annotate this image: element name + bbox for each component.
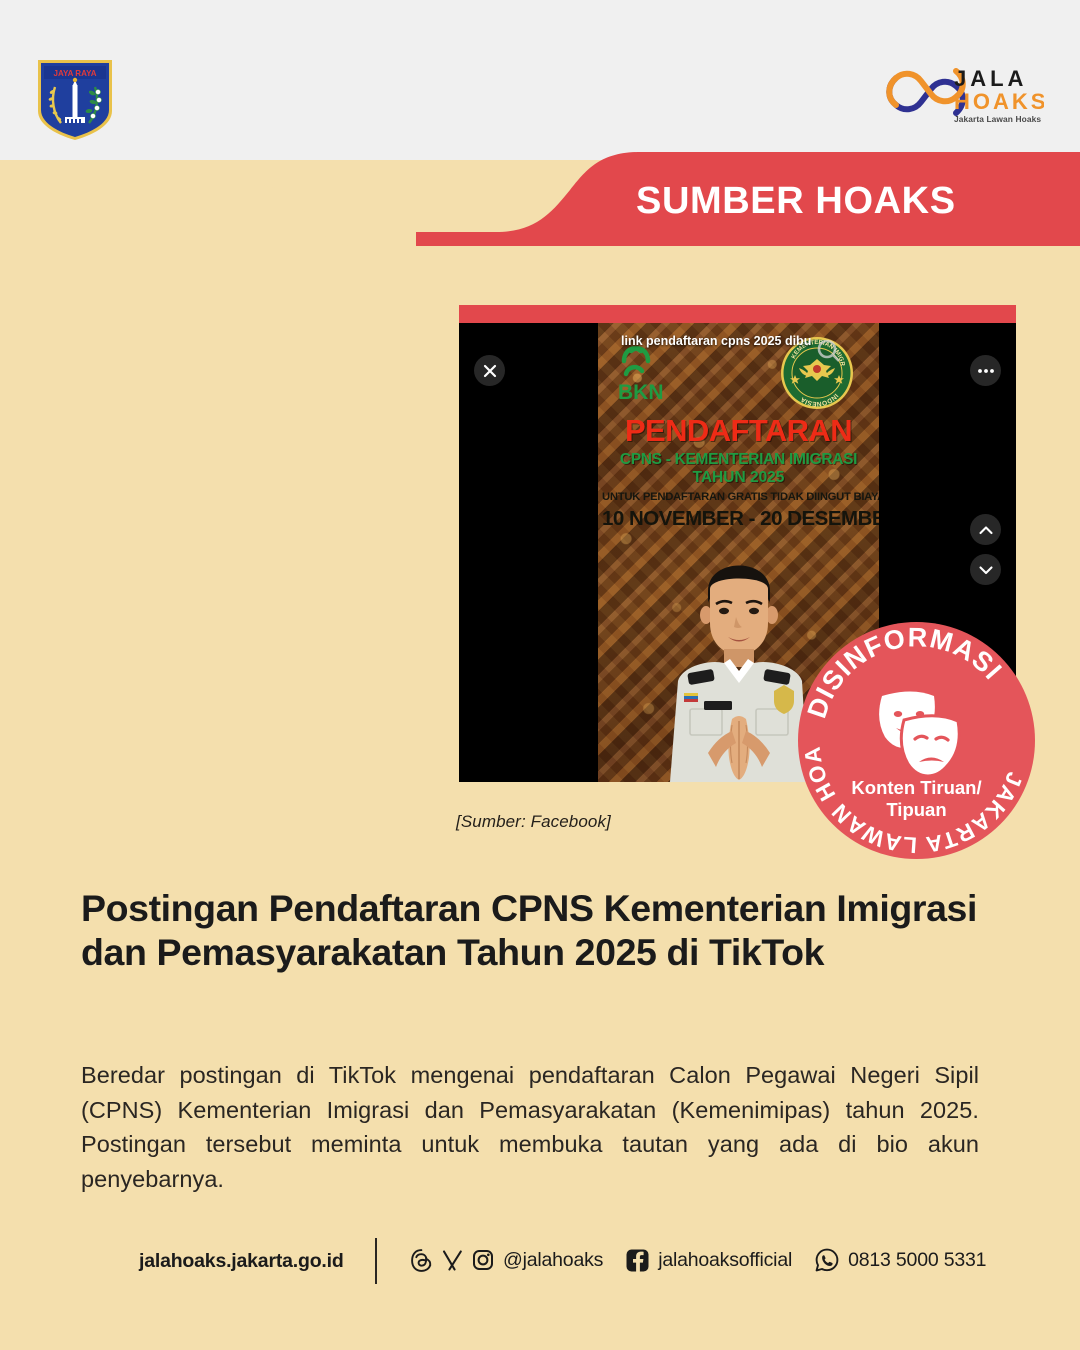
bkn-logo: BKN xyxy=(614,341,680,405)
footer-divider xyxy=(375,1238,377,1284)
whatsapp-icon[interactable] xyxy=(815,1248,839,1272)
scroll-up-button[interactable] xyxy=(970,514,1001,545)
beige-fill-bottom xyxy=(0,246,1080,260)
whatsapp-number: 0813 5000 5331 xyxy=(848,1245,986,1275)
chevron-up-icon xyxy=(979,525,993,535)
footer: jalahoaks.jakarta.go.id xyxy=(0,1248,1080,1296)
source-caption: [Sumber: Facebook] xyxy=(456,812,716,832)
logo-tagline: Jakarta Lawan Hoaks xyxy=(954,114,1041,124)
poster-title: PENDAFTARAN xyxy=(602,415,875,447)
footer-website[interactable]: jalahoaks.jakarta.go.id xyxy=(139,1248,344,1274)
poster-date-range: 10 NOVEMBER - 20 DESEMBER xyxy=(602,507,875,530)
jakarta-emblem: JAYA RAYA xyxy=(31,55,119,143)
page-title: Postingan Pendaftaran CPNS Kementerian I… xyxy=(81,886,1011,974)
banner-title: SUMBER HOAKS xyxy=(636,175,1056,227)
close-icon xyxy=(483,364,497,378)
footer-social-row: @jalahoaks jalahoaksofficial 0813 5000 5… xyxy=(410,1245,1000,1275)
svg-text:BKN: BKN xyxy=(618,381,664,404)
article-body: Beredar postingan di TikTok mengenai pen… xyxy=(81,1058,979,1196)
tiktok-caption-overlay: link pendaftaran cpns 2025 dibu xyxy=(621,334,871,349)
scroll-down-button[interactable] xyxy=(970,554,1001,585)
threads-icon[interactable] xyxy=(410,1248,433,1273)
instagram-icon[interactable] xyxy=(472,1249,494,1271)
screenshot-top-redbar xyxy=(459,305,1016,323)
facebook-icon[interactable] xyxy=(626,1249,649,1272)
poster-canvas: JAYA RAYA xyxy=(0,0,1080,1350)
poster-subtitle-line2: TAHUN 2025 xyxy=(602,469,875,486)
interlocking-links-icon xyxy=(889,71,963,113)
logo-jala-text: JALA xyxy=(954,66,1027,91)
badge-center-line2: Tipuan xyxy=(886,799,946,820)
poster-fee-note: UNTUK PENDAFTARAN GRATIS TIDAK DIINGUT B… xyxy=(602,491,875,504)
social-handle: @jalahoaks xyxy=(503,1245,603,1275)
x-twitter-icon[interactable] xyxy=(442,1250,463,1271)
svg-text:JAYA RAYA: JAYA RAYA xyxy=(54,69,97,78)
chevron-down-icon xyxy=(979,565,993,575)
close-button[interactable] xyxy=(474,355,505,386)
more-options-icon xyxy=(977,368,995,374)
poster-subtitle-line1: CPNS - KEMENTERIAN IMIGRASI xyxy=(602,451,875,468)
logo-hoaks-text: HOAKS xyxy=(954,89,1044,114)
badge-center-line1: Konten Tiruan/ xyxy=(851,777,981,798)
status-badge: DISINFORMASI JAKARTA LAWAN HOAKS Konten … xyxy=(798,622,1035,859)
more-options-button[interactable] xyxy=(970,355,1001,386)
jala-hoaks-logo: JALA HOAKS Jakarta Lawan Hoaks xyxy=(884,58,1044,132)
facebook-handle: jalahoaksofficial xyxy=(658,1245,792,1275)
